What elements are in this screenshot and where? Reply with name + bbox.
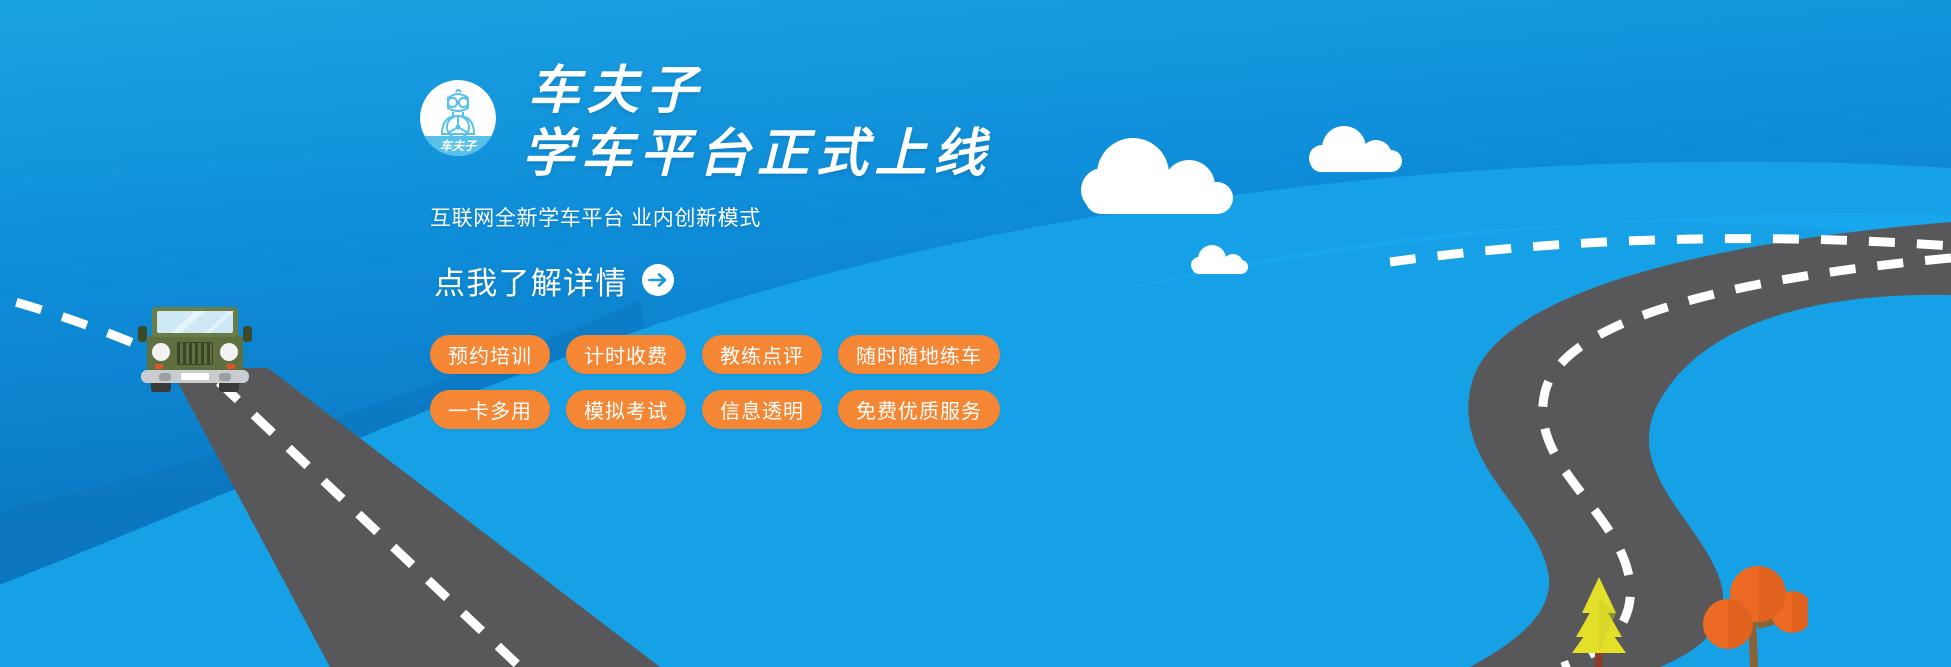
feature-tag[interactable]: 模拟考试: [566, 390, 686, 429]
arrow-right-circle-icon: [641, 263, 675, 297]
feature-tag-rows: 预约培训 计时收费 教练点评 随时随地练车 一卡多用 模拟考试 信息透明 免费优…: [430, 335, 1060, 429]
promo-banner: 车夫子 车夫子 学车平台正式上线 互联网全新学车平台 业内创新模式 点我了解详情: [0, 0, 1951, 667]
feature-tag[interactable]: 随时随地练车: [838, 335, 1000, 374]
chefuzi-logo-icon: 车夫子: [420, 80, 496, 156]
headline-line-1: 车夫子: [522, 64, 1060, 120]
banner-subtitle: 互联网全新学车平台 业内创新模式: [430, 202, 1060, 232]
round-tree-icon: [1700, 562, 1808, 667]
feature-tag[interactable]: 教练点评: [702, 335, 822, 374]
pine-tree-icon: [1570, 575, 1628, 667]
brand-row: 车夫子 车夫子 学车平台正式上线: [420, 62, 1060, 186]
feature-tag[interactable]: 一卡多用: [430, 390, 550, 429]
feature-tag[interactable]: 预约培训: [430, 335, 550, 374]
green-jeep-icon: [137, 300, 253, 396]
learn-more-cta[interactable]: 点我了解详情: [430, 256, 679, 305]
feature-tag[interactable]: 信息透明: [702, 390, 822, 429]
banner-content: 车夫子 车夫子 学车平台正式上线 互联网全新学车平台 业内创新模式 点我了解详情: [420, 62, 1060, 429]
learn-more-label: 点我了解详情: [434, 258, 627, 303]
headline-line-2: 学车平台正式上线: [522, 124, 1060, 185]
headline-wrap: 车夫子 学车平台正式上线: [522, 62, 1060, 186]
feature-tag-row-1: 预约培训 计时收费 教练点评 随时随地练车: [430, 335, 1060, 374]
feature-tag[interactable]: 免费优质服务: [838, 390, 1000, 429]
logo-badge-text: 车夫子: [440, 139, 478, 153]
feature-tag-row-2: 一卡多用 模拟考试 信息透明 免费优质服务: [430, 390, 1060, 429]
feature-tag[interactable]: 计时收费: [566, 335, 686, 374]
